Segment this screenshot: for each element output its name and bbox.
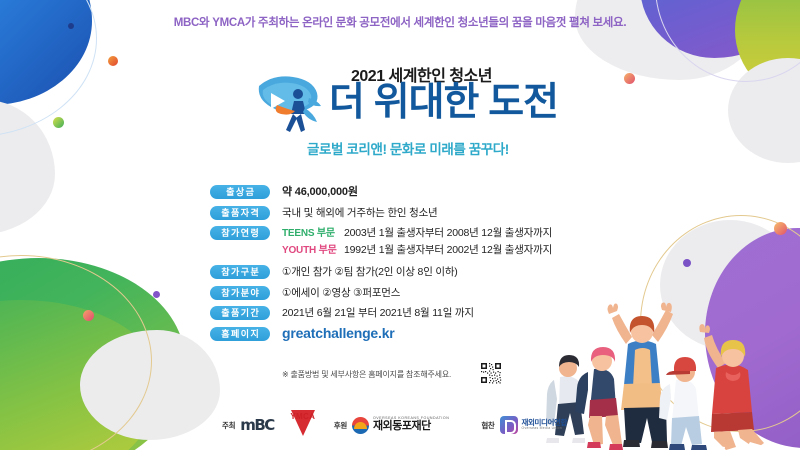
decorative-dot-violet-2 — [683, 259, 691, 267]
great-challenge-emblem-icon — [253, 72, 325, 132]
kmu-logo-en: Overseas Media Union — [522, 427, 568, 431]
homepage-link[interactable]: greatchallenge.kr — [282, 326, 395, 341]
footer-label-host: 주최 — [222, 420, 235, 431]
value-category: ①에세이 ②영상 ③퍼포먼스 — [282, 285, 400, 301]
detail-row-category: 참가분야 ①에세이 ②영상 ③퍼포먼스 — [210, 285, 630, 301]
top-banner-text: MBC와 YMCA가 주최하는 온라인 문화 공모전에서 세계한인 청소년들의 … — [0, 14, 800, 30]
sponsor-footer: 주최 mBC YMCA 후원 OVERSEAS KOREANS FOUNDATI… — [222, 408, 567, 442]
label-homepage: 홈페이지 — [210, 327, 270, 341]
ohf-emblem-icon — [352, 417, 369, 434]
decorative-blob-grey-top-right — [575, 0, 765, 80]
age-tag-youth: YOUTH 부문 — [282, 242, 344, 259]
decorative-arc-top-right — [655, 0, 800, 82]
overseas-media-union-logo: 재외미디어연합 Overseas Media Union — [500, 416, 568, 434]
ymca-logo: YMCA — [286, 410, 320, 440]
age-group-youth: YOUTH 부문 1992년 1월 출생자부터 2002년 12월 출생자까지 — [282, 242, 552, 259]
footer-label-support: 후원 — [334, 420, 347, 431]
label-category: 참가분야 — [210, 286, 270, 300]
title-tagline: 글로벌 코리앤! 문화로 미래를 꿈꾸다! — [307, 138, 509, 158]
details-table: 출상금 약 46,000,000원 출품자격 국내 및 해외에 거주하는 한인 … — [210, 184, 630, 345]
decorative-arc-bottom-right — [640, 215, 800, 432]
label-eligibility: 출품자격 — [210, 206, 270, 220]
decorative-dot-sunset — [774, 222, 787, 235]
label-prize: 출상금 — [210, 185, 270, 199]
detail-row-entry-type: 참가구분 ①개인 참가 ②팀 참가(2인 이상 8인 이하) — [210, 264, 630, 280]
kmu-emblem-icon — [500, 416, 518, 434]
age-tag-teens: TEENS 부문 — [282, 225, 344, 242]
decorative-dot-peach — [624, 73, 635, 84]
page-title: 더 위대한 도전 — [329, 83, 558, 122]
decorative-blob-grey-top-left — [0, 100, 55, 235]
ymca-logo-text: YMCA — [286, 412, 320, 421]
label-age: 참가연령 — [210, 226, 270, 240]
decorative-dot-green — [53, 117, 64, 128]
decorative-blob-purple-bottom-right — [705, 228, 800, 448]
label-entry-type: 참가구분 — [210, 265, 270, 279]
mbc-logo: mBC — [240, 416, 274, 434]
overseas-koreans-foundation-logo: OVERSEAS KOREANS FOUNDATION 재외동포재단 — [352, 417, 449, 434]
decorative-blob-lime-bottom-left — [0, 300, 160, 450]
age-range-teens: 2003년 1월 출생자부터 2008년 12월 출생자까지 — [344, 225, 552, 242]
decorative-blob-green-bottom-left — [0, 258, 185, 450]
decorative-blob-grey-bottom-left — [80, 330, 220, 440]
decorative-blob-grey-bottom-right — [660, 220, 800, 350]
detail-row-homepage: 홈페이지 greatchallenge.kr — [210, 326, 630, 341]
ohf-logo-ko: 재외동포재단 — [373, 421, 449, 433]
label-period: 출품기간 — [210, 306, 270, 320]
value-entry-type: ①개인 참가 ②팀 참가(2인 이상 8인 이하) — [282, 264, 458, 280]
detail-row-period: 출품기간 2021년 6월 21일 부터 2021년 8월 11일 까지 — [210, 305, 630, 321]
footnote-text: ※ 출품방법 및 세부사항은 홈페이지를 참조해주세요. — [282, 369, 451, 380]
decorative-dot-violet — [153, 291, 160, 298]
value-age-groups: TEENS 부문 2003년 1월 출생자부터 2008년 12월 출생자까지 … — [282, 225, 552, 259]
decorative-arc-bottom-left — [0, 255, 152, 450]
detail-row-age: 참가연령 TEENS 부문 2003년 1월 출생자부터 2008년 12월 출… — [210, 225, 630, 259]
detail-row-prize: 출상금 약 46,000,000원 — [210, 184, 630, 200]
value-prize: 약 46,000,000원 — [282, 184, 358, 200]
age-group-teens: TEENS 부문 2003년 1월 출생자부터 2008년 12월 출생자까지 — [282, 225, 552, 242]
detail-row-eligibility: 출품자격 국내 및 해외에 거주하는 한인 청소년 — [210, 205, 630, 221]
decorative-blob-grey-top-right-2 — [728, 58, 800, 163]
decorative-dot-orange — [108, 56, 118, 66]
poster-canvas: MBC와 YMCA가 주최하는 온라인 문화 공모전에서 세계한인 청소년들의 … — [0, 0, 800, 450]
decorative-dot-coral — [83, 310, 94, 321]
footer-label-sponsor: 협찬 — [481, 420, 494, 431]
age-range-youth: 1992년 1월 출생자부터 2002년 12월 출생자까지 — [344, 242, 552, 259]
qr-code[interactable] — [480, 362, 502, 384]
value-period: 2021년 6월 21일 부터 2021년 8월 11일 까지 — [282, 305, 474, 321]
value-eligibility: 국내 및 해외에 거주하는 한인 청소년 — [282, 205, 438, 221]
